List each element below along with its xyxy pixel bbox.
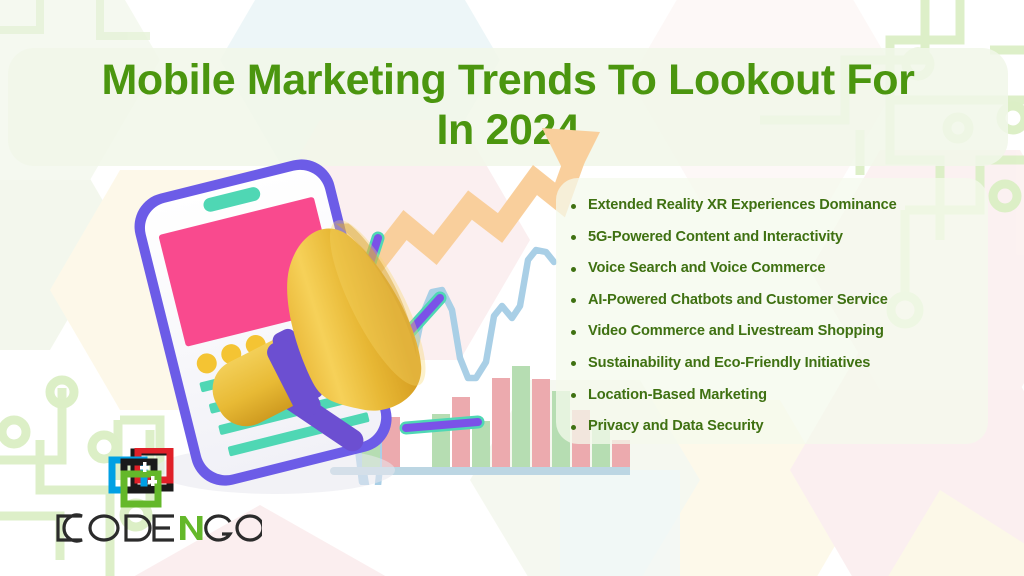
- codengo-wordmark: [52, 506, 262, 550]
- codengo-mark-icon: [104, 448, 182, 510]
- wordmark-n-highlight: [180, 516, 203, 540]
- brand-logo[interactable]: [52, 448, 262, 554]
- poster-canvas: Mobile Marketing Trends To Lookout For I…: [0, 0, 1024, 576]
- list-item[interactable]: Privacy and Data Security: [566, 411, 986, 443]
- list-item[interactable]: Video Commerce and Livestream Shopping: [566, 316, 986, 348]
- list-item[interactable]: Voice Search and Voice Commerce: [566, 253, 986, 285]
- list-item[interactable]: AI-Powered Chatbots and Customer Service: [566, 285, 986, 317]
- list-item[interactable]: Location-Based Marketing: [566, 380, 986, 412]
- page-title-line1: Mobile Marketing Trends To Lookout For: [102, 56, 915, 104]
- list-item[interactable]: 5G-Powered Content and Interactivity: [566, 222, 986, 254]
- trends-list: Extended Reality XR Experiences Dominanc…: [566, 190, 986, 443]
- wordmark-outline-2: [206, 516, 262, 540]
- wordmark-outline: [58, 515, 174, 541]
- list-item[interactable]: Sustainability and Eco-Friendly Initiati…: [566, 348, 986, 380]
- list-item[interactable]: Extended Reality XR Experiences Dominanc…: [566, 190, 986, 222]
